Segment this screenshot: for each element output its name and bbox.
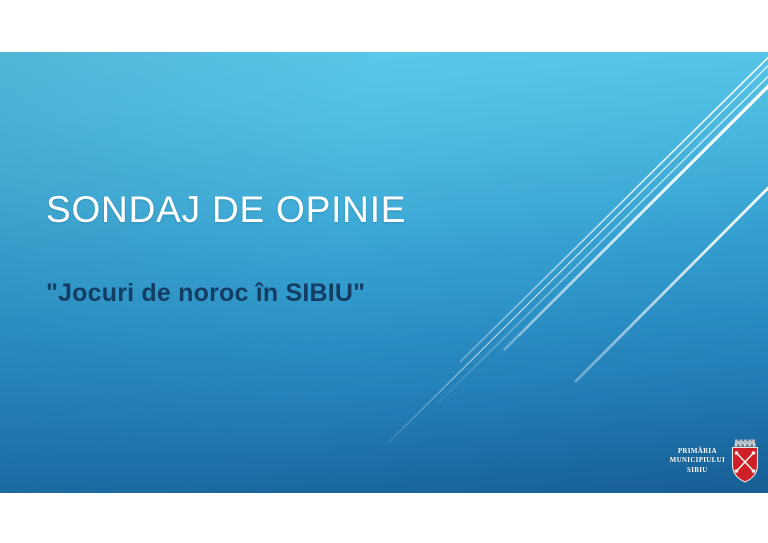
title-block: SONDAJ DE OPINIE "Jocuri de noroc în SIB… xyxy=(46,190,666,307)
page-subtitle: "Jocuri de noroc în SIBIU" xyxy=(46,279,666,308)
logo-text-line-3: SIBIU xyxy=(670,466,725,475)
logo-text-line-1: PRIMĂRIA xyxy=(670,447,725,456)
slide-page: SONDAJ DE OPINIE "Jocuri de noroc în SIB… xyxy=(0,0,768,543)
page-title: SONDAJ DE OPINIE xyxy=(46,190,666,231)
mural-crown-icon xyxy=(735,440,756,447)
logo-text-line-2: MUNICIPIULUI xyxy=(670,456,725,465)
presentation-slide: SONDAJ DE OPINIE "Jocuri de noroc în SIB… xyxy=(0,52,768,493)
organization-logo: PRIMĂRIA MUNICIPIULUI SIBIU xyxy=(668,435,760,487)
sibiu-coat-of-arms-icon xyxy=(730,439,760,483)
logo-text: PRIMĂRIA MUNICIPIULUI SIBIU xyxy=(670,447,725,475)
